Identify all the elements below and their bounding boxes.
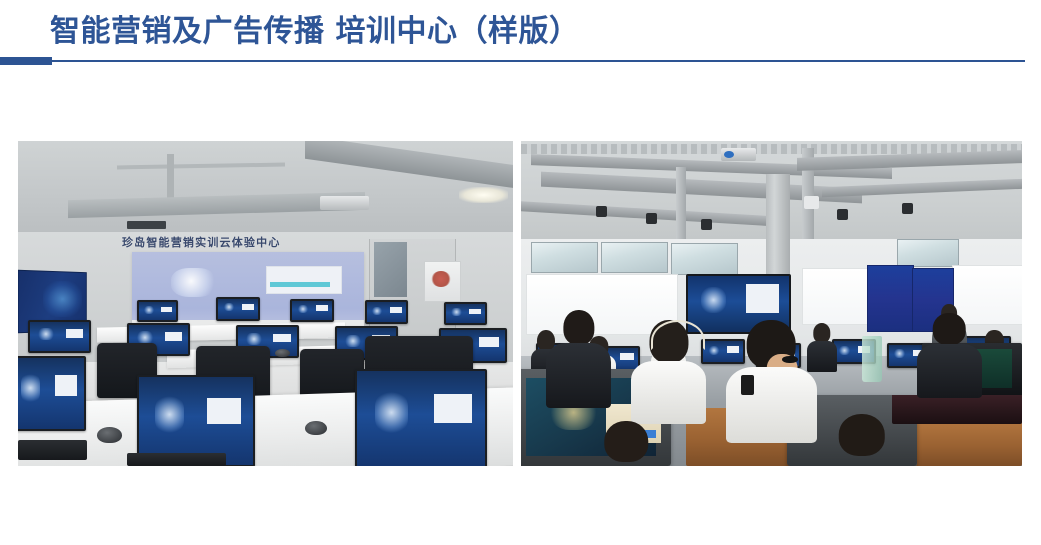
track-spotlight — [837, 209, 848, 220]
interior-window — [601, 242, 668, 273]
monitor — [137, 300, 178, 322]
ceiling-sensor — [804, 196, 819, 209]
training-room-projector-photo: 珍岛智能营销实训云体验中心 — [18, 141, 513, 466]
divider-accent-block — [0, 57, 52, 65]
display-screen-logo — [701, 287, 726, 313]
monitor — [365, 300, 409, 324]
projector-lens — [724, 151, 734, 158]
mouse — [305, 421, 327, 436]
person-head — [604, 421, 647, 463]
monitor — [444, 302, 488, 326]
water-bottle — [862, 336, 882, 382]
divider-rule-line — [52, 60, 1025, 62]
keyboard — [18, 440, 87, 460]
projection-screen-login-button — [270, 282, 329, 287]
wall-signage-text: 珍岛智能营销实训云体验中心 — [122, 234, 281, 250]
wall-infographic-poster — [802, 268, 874, 325]
interior-window — [897, 239, 959, 267]
page-title: 智能营销及广告传播 培训中心（样版） — [50, 14, 579, 50]
person-head — [933, 313, 966, 345]
track-spotlight — [646, 213, 657, 224]
ceiling-projector — [320, 196, 370, 210]
eyeglasses — [782, 356, 798, 364]
ceiling-hanger — [676, 167, 686, 239]
track-spotlight — [596, 206, 607, 217]
wall-speaker — [127, 221, 167, 229]
necktie — [741, 375, 754, 395]
student-foreground — [917, 313, 982, 398]
projection-screen-login-card — [266, 266, 342, 294]
mouse — [97, 427, 122, 443]
display-screen-login-card — [746, 284, 779, 313]
monitor — [18, 356, 86, 432]
wall-display-world-map — [43, 281, 83, 317]
person-head — [563, 310, 594, 345]
student-foreground — [822, 414, 902, 466]
wall-poster-blue — [867, 265, 914, 332]
training-lab-students-photo — [521, 141, 1022, 466]
interior-window — [671, 243, 738, 274]
student-foreground — [546, 310, 611, 408]
monitor — [28, 320, 91, 353]
ceiling-light — [459, 187, 509, 203]
title-divider — [0, 57, 1025, 65]
keyboard — [127, 453, 226, 466]
person-head — [838, 414, 884, 456]
track-spotlight — [701, 219, 712, 230]
projection-screen-logo — [171, 268, 216, 297]
monitor — [216, 297, 260, 321]
monitor — [355, 369, 488, 467]
student-foreground — [591, 421, 661, 467]
person-body — [631, 361, 706, 423]
laptop-keyboard — [892, 395, 1022, 424]
student-foreground — [726, 320, 816, 444]
monitor — [290, 299, 334, 323]
person-body — [917, 344, 982, 398]
desk-wood-panel — [912, 421, 1022, 467]
track-spotlight — [902, 203, 913, 214]
interior-window — [531, 242, 598, 273]
person-body — [546, 343, 611, 407]
person-body — [726, 367, 816, 444]
door-glass-pane — [374, 242, 406, 297]
